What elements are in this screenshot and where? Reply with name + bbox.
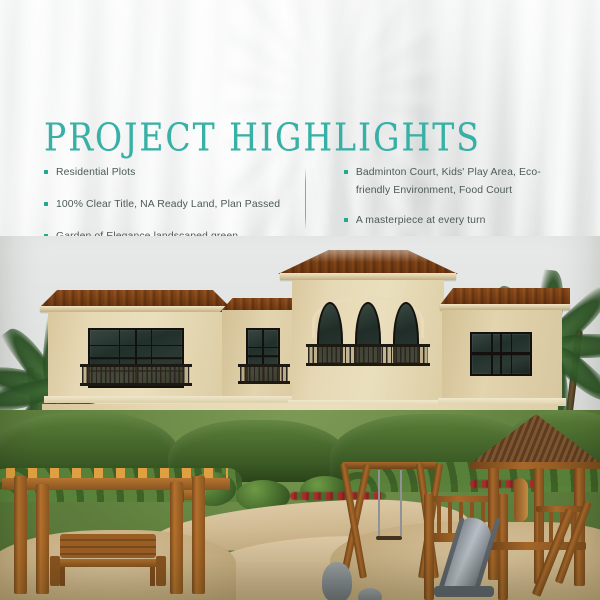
floor-band-left <box>44 396 228 403</box>
balcony-mid-left <box>240 364 288 384</box>
bench-backrest <box>60 534 156 558</box>
cornice-center <box>280 273 456 280</box>
spring-rider-a <box>322 562 352 600</box>
list-item: Residential Plots <box>44 164 304 182</box>
pergola-post-3 <box>170 482 183 594</box>
list-item-label: Badminton Court, Kids' Play Area, Eco-fr… <box>356 164 564 200</box>
bench-armrest-right <box>156 556 166 586</box>
playground-structure <box>338 414 600 600</box>
list-item-label: 100% Clear Title, NA Ready Land, Plan Pa… <box>56 196 280 214</box>
list-item-label: Residential Plots <box>56 164 135 182</box>
bullet-dot-icon <box>44 170 48 174</box>
roof-center-tower <box>278 250 458 274</box>
slide-runout <box>434 586 494 597</box>
bullet-dot-icon <box>344 218 348 222</box>
pergola-structure <box>2 448 234 594</box>
tower-roof <box>470 414 600 464</box>
poster-canvas: PROJECT HIGHLIGHTS Residential Plots 100… <box>0 0 600 600</box>
bullet-dot-icon <box>44 202 48 206</box>
swing-chain-left <box>378 470 380 536</box>
list-item: A masterpiece at every turn <box>344 212 564 230</box>
balcony-left <box>82 364 190 386</box>
bench-armrest-left <box>50 556 60 586</box>
pergola-post-2 <box>36 484 49 594</box>
list-item: Badminton Court, Kids' Play Area, Eco-fr… <box>344 164 564 200</box>
pergola-post-4 <box>192 476 205 594</box>
swing-seat <box>376 536 402 540</box>
pergola-post-1 <box>14 476 27 594</box>
platform-post-left <box>424 494 434 600</box>
bench-leg-left <box>60 567 65 586</box>
bullet-dot-icon <box>344 170 348 174</box>
list-item: 100% Clear Title, NA Ready Land, Plan Pa… <box>44 196 304 214</box>
page-title: PROJECT HIGHLIGHTS <box>44 118 481 156</box>
window-right-upper <box>470 332 532 376</box>
list-item-label: A masterpiece at every turn <box>356 212 486 230</box>
garden-bench <box>56 534 160 586</box>
swing-chain-right <box>400 470 402 536</box>
bench-seat <box>56 559 160 567</box>
roof-right-wing <box>440 288 570 305</box>
balcony-center <box>308 344 428 366</box>
bench-leg-right <box>150 567 155 586</box>
project-photo <box>0 236 600 600</box>
spring-rider-b <box>358 588 382 600</box>
slide-hood <box>514 478 528 522</box>
tower-rail-top <box>536 506 586 512</box>
roof-left-wing <box>40 290 230 307</box>
